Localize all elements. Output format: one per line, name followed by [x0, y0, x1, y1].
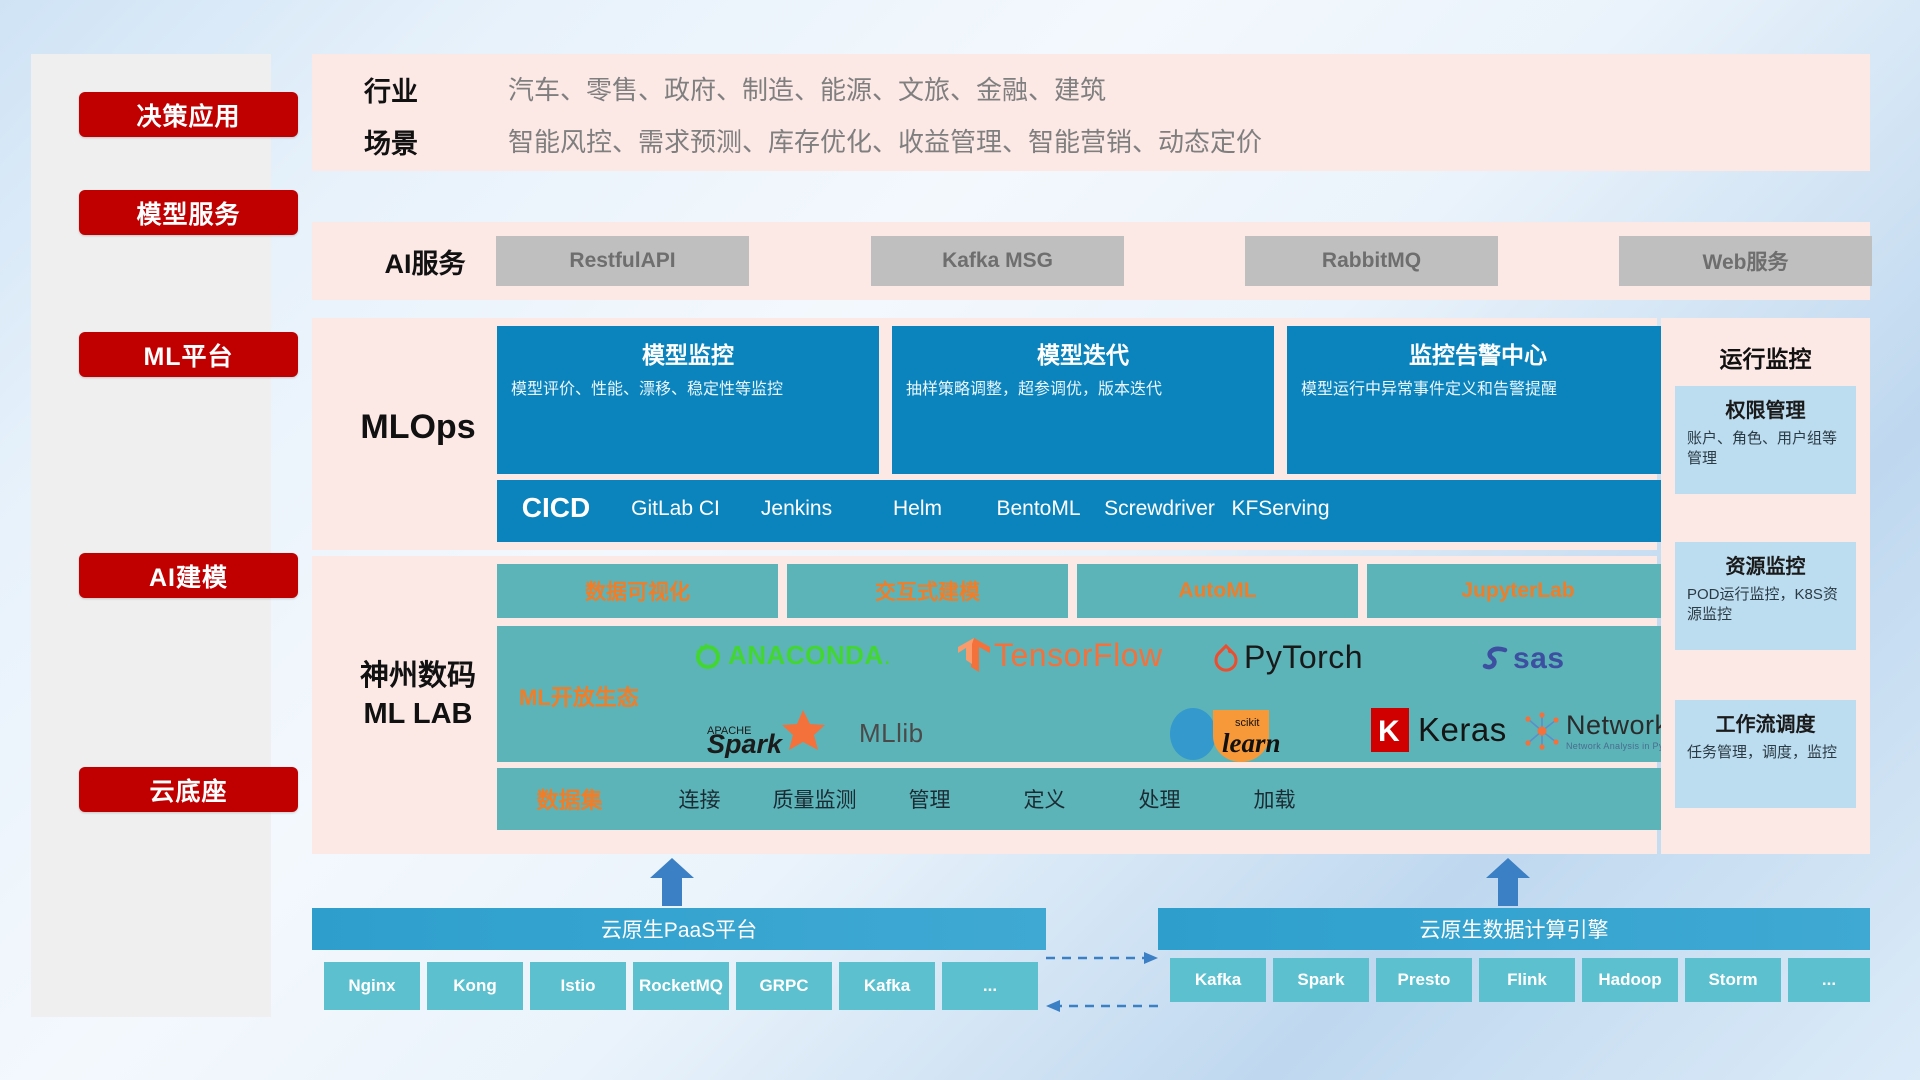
- paas-chip-grpc[interactable]: GRPC: [736, 962, 832, 1010]
- cicd-tool-helm[interactable]: Helm: [857, 480, 978, 522]
- card-desc: 模型评价、性能、漂移、稳定性等监控: [511, 379, 865, 401]
- industry-text: 汽车、零售、政府、制造、能源、文旅、金融、建筑: [508, 68, 1106, 112]
- scenario-label: 场景: [364, 118, 468, 164]
- card-title: 监控告警中心: [1301, 336, 1655, 370]
- rail-item-ml-platform[interactable]: ML平台: [79, 332, 298, 377]
- spark-mllib-logo: APACHE Spark MLlib: [707, 708, 924, 758]
- engine-chip-flink[interactable]: Flink: [1479, 958, 1575, 1002]
- dataset-item-connect[interactable]: 连接: [642, 784, 757, 814]
- anaconda-logo: ANACONDA .: [693, 640, 891, 671]
- mllab-tool-interactive[interactable]: 交互式建模: [787, 564, 1068, 618]
- arrow-up-right-icon: [1484, 858, 1532, 906]
- card-title: 模型迭代: [906, 336, 1260, 370]
- keras-logo: K Keras: [1369, 706, 1507, 754]
- anaconda-icon: [693, 641, 723, 671]
- mllib-wordmark: MLlib: [859, 718, 924, 749]
- rail-item-ai-modeling[interactable]: AI建模: [79, 553, 298, 598]
- anaconda-wordmark: ANACONDA: [728, 640, 884, 671]
- box-desc: 任务管理，调度，监控: [1687, 743, 1844, 763]
- engine-chip-storm[interactable]: Storm: [1685, 958, 1781, 1002]
- networkx-icon: [1522, 711, 1562, 751]
- dataset-item-define[interactable]: 定义: [987, 784, 1102, 814]
- dataset-item-load[interactable]: 加载: [1217, 784, 1332, 814]
- mllab-label-line2: ML LAB: [326, 696, 510, 734]
- ai-service-band: AI服务 RestfulAPI Kafka MSG RabbitMQ Web服务: [312, 222, 1870, 300]
- rail-item-model-service[interactable]: 模型服务: [79, 190, 298, 235]
- box-title: 权限管理: [1687, 394, 1844, 423]
- ai-service-chip-kafka-msg[interactable]: Kafka MSG: [871, 236, 1124, 286]
- box-desc: POD运行监控，K8S资源监控: [1687, 585, 1844, 626]
- cicd-tool-gitlab-ci[interactable]: GitLab CI: [615, 480, 736, 522]
- keras-wordmark: Keras: [1418, 711, 1507, 749]
- monitor-box-resources[interactable]: 资源监控 POD运行监控，K8S资源监控: [1675, 542, 1856, 650]
- box-title: 工作流调度: [1687, 708, 1844, 737]
- arrow-up-left-icon: [648, 858, 696, 906]
- engine-chip-kafka[interactable]: Kafka: [1170, 958, 1266, 1002]
- scenario-text: 智能风控、需求预测、库存优化、收益管理、智能营销、动态定价: [508, 120, 1262, 164]
- scikit-learn-icon: scikit learn: [1167, 704, 1297, 762]
- paas-chip-kong[interactable]: Kong: [427, 962, 523, 1010]
- box-title: 资源监控: [1687, 550, 1844, 579]
- tensorflow-logo: TensorFlow: [957, 636, 1163, 674]
- sas-icon: [1482, 645, 1512, 673]
- svg-text:K: K: [1378, 715, 1400, 748]
- mllab-label: 神州数码 ML LAB: [326, 658, 510, 733]
- scikit-learn-logo: scikit learn: [1167, 704, 1297, 762]
- tensorflow-icon: [957, 636, 991, 674]
- sas-wordmark: sas: [1513, 642, 1565, 676]
- engine-chip-presto[interactable]: Presto: [1376, 958, 1472, 1002]
- pytorch-icon: [1212, 642, 1240, 674]
- engine-chip-spark[interactable]: Spark: [1273, 958, 1369, 1002]
- keras-icon: K: [1369, 706, 1411, 754]
- runtime-monitoring-title: 运行监控: [1661, 340, 1870, 374]
- paas-chip-istio[interactable]: Istio: [530, 962, 626, 1010]
- sas-logo: sas: [1482, 642, 1565, 676]
- dataset-item-manage[interactable]: 管理: [872, 784, 987, 814]
- card-desc: 模型运行中异常事件定义和告警提醒: [1301, 379, 1655, 401]
- paas-chip-rocketmq[interactable]: RocketMQ: [633, 962, 729, 1010]
- paas-chip-kafka[interactable]: Kafka: [839, 962, 935, 1010]
- cicd-tool-kfserving[interactable]: KFServing: [1220, 480, 1341, 522]
- paas-chip-more[interactable]: ...: [942, 962, 1038, 1010]
- mllab-tool-automl[interactable]: AutoML: [1077, 564, 1358, 618]
- data-compute-engine-bar[interactable]: 云原生数据计算引擎: [1158, 908, 1870, 950]
- cicd-bar: CICD GitLab CI Jenkins Helm BentoML Scre…: [497, 480, 1669, 542]
- mllab-tool-jupyterlab[interactable]: JupyterLab: [1367, 564, 1669, 618]
- pytorch-wordmark: PyTorch: [1244, 639, 1363, 676]
- diagram-canvas: 决策应用 模型服务 ML平台 AI建模 云底座 行业 汽车、零售、政府、制造、能…: [0, 0, 1920, 1080]
- bidirectional-dashed-connector-icon: [1046, 948, 1158, 1018]
- engine-chip-hadoop[interactable]: Hadoop: [1582, 958, 1678, 1002]
- ml-ecosystem-label: ML开放生态: [519, 680, 639, 712]
- cicd-tool-screwdriver[interactable]: Screwdriver: [1099, 480, 1220, 522]
- mlops-card-alert-center[interactable]: 监控告警中心 模型运行中异常事件定义和告警提醒: [1287, 326, 1669, 474]
- ai-service-label: AI服务: [350, 240, 500, 282]
- rail-item-cloud-base[interactable]: 云底座: [79, 767, 298, 812]
- cicd-label: CICD: [497, 480, 615, 524]
- mllab-label-line1: 神州数码: [326, 658, 510, 696]
- ai-service-chip-rabbitmq[interactable]: RabbitMQ: [1245, 236, 1498, 286]
- svg-text:learn: learn: [1222, 728, 1281, 758]
- runtime-monitoring-column: 运行监控 权限管理 账户、角色、用户组等管理 资源监控 POD运行监控，K8S资…: [1661, 318, 1870, 854]
- ai-service-chip-restfulapi[interactable]: RestfulAPI: [496, 236, 749, 286]
- svg-text:Spark: Spark: [707, 729, 784, 758]
- paas-chip-nginx[interactable]: Nginx: [324, 962, 420, 1010]
- spark-icon: APACHE Spark: [707, 708, 857, 758]
- card-title: 模型监控: [511, 336, 865, 370]
- mlops-label: MLOps: [332, 402, 504, 452]
- mlops-band: MLOps 模型监控 模型评价、性能、漂移、稳定性等监控 模型迭代 抽样策略调整…: [312, 318, 1657, 550]
- ai-service-chip-web-service[interactable]: Web服务: [1619, 236, 1872, 286]
- rail-item-decision-app[interactable]: 决策应用: [79, 92, 298, 137]
- pytorch-logo: PyTorch: [1212, 639, 1363, 676]
- card-desc: 抽样策略调整，超参调优，版本迭代: [906, 379, 1260, 401]
- industry-scenario-band: 行业 汽车、零售、政府、制造、能源、文旅、金融、建筑 场景 智能风控、需求预测、…: [312, 54, 1870, 171]
- tensorflow-wordmark: TensorFlow: [994, 637, 1163, 674]
- cicd-tool-jenkins[interactable]: Jenkins: [736, 480, 857, 522]
- dataset-item-quality[interactable]: 质量监测: [757, 784, 872, 814]
- engine-chip-more[interactable]: ...: [1788, 958, 1870, 1002]
- industry-label: 行业: [364, 66, 468, 112]
- mllab-band: 神州数码 ML LAB 数据可视化 交互式建模 AutoML JupyterLa…: [312, 556, 1657, 854]
- mlops-card-model-monitoring[interactable]: 模型监控 模型评价、性能、漂移、稳定性等监控: [497, 326, 879, 474]
- monitor-box-permissions[interactable]: 权限管理 账户、角色、用户组等管理: [1675, 386, 1856, 494]
- dataset-item-process[interactable]: 处理: [1102, 784, 1217, 814]
- left-rail: 决策应用 模型服务 ML平台 AI建模 云底座: [31, 54, 271, 1017]
- dataset-label: 数据集: [497, 783, 642, 815]
- monitor-box-workflow[interactable]: 工作流调度 任务管理，调度，监控: [1675, 700, 1856, 808]
- cicd-tool-bentoml[interactable]: BentoML: [978, 480, 1099, 522]
- box-desc: 账户、角色、用户组等管理: [1687, 429, 1844, 470]
- paas-platform-bar[interactable]: 云原生PaaS平台: [312, 908, 1046, 950]
- mllab-tool-data-viz[interactable]: 数据可视化: [497, 564, 778, 618]
- mlops-card-model-iteration[interactable]: 模型迭代 抽样策略调整，超参调优，版本迭代: [892, 326, 1274, 474]
- dataset-row: 数据集 连接 质量监测 管理 定义 处理 加载: [497, 768, 1669, 830]
